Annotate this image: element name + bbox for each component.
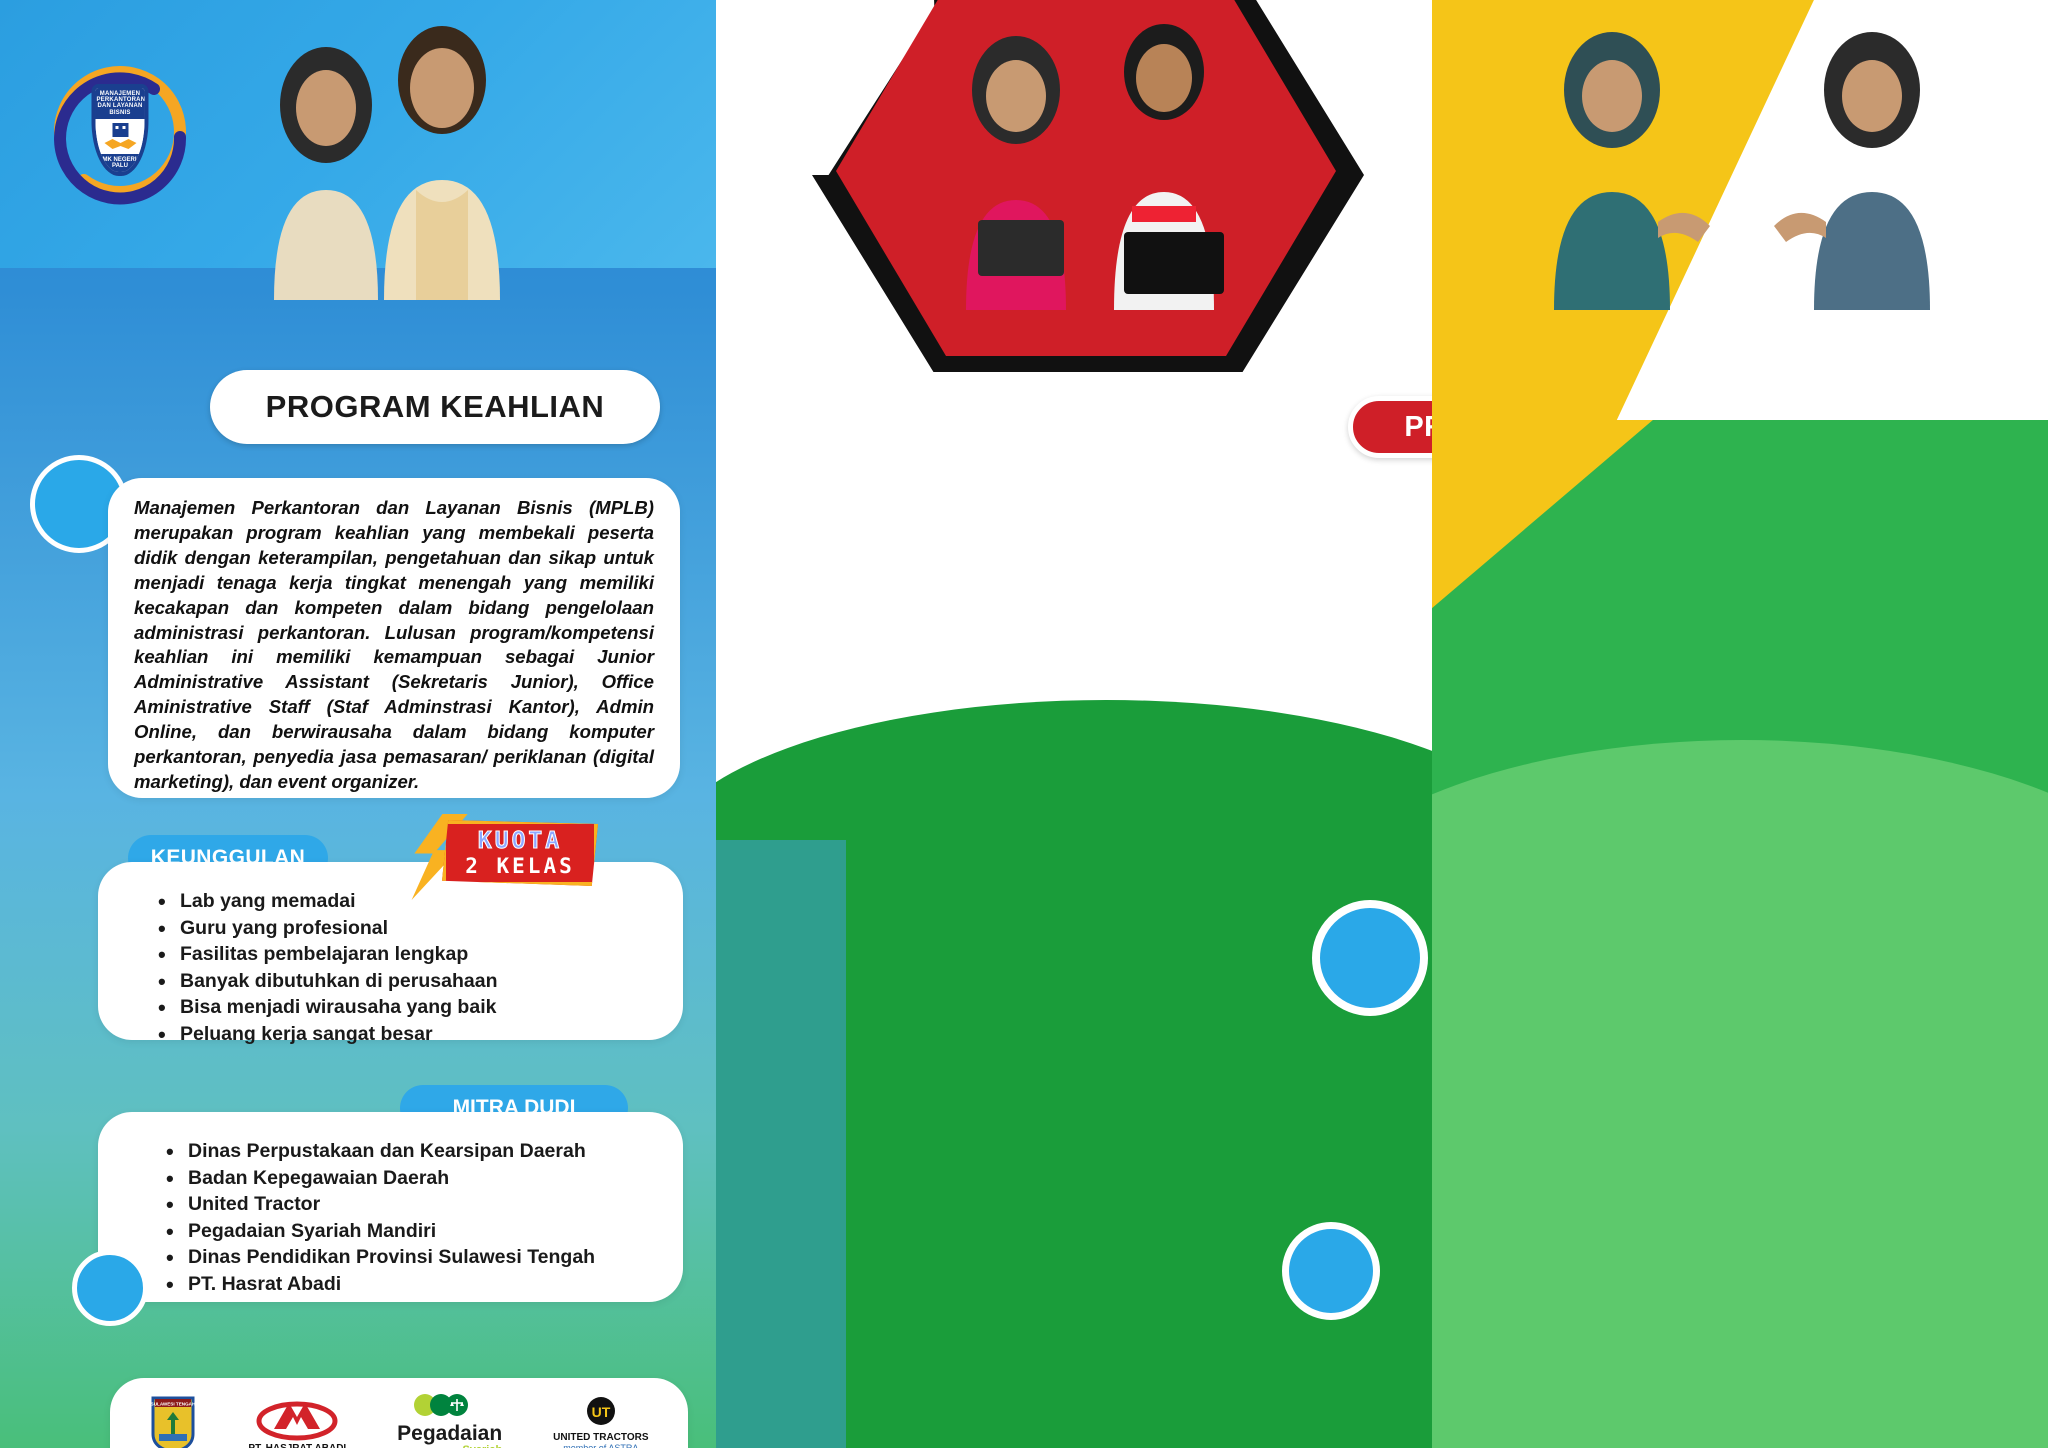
brochure-page: MANAJEMEN PERKANTORAN DAN LAYANAN BISNIS… xyxy=(0,0,2048,1448)
psos-students-photo xyxy=(1462,10,2022,310)
list-item: Banyak dibutuhkan di perusahaan xyxy=(154,968,663,995)
panel-tjkt: TEKNIK JARINGAN KOMPUTER DAN TELEKOMUNIK… xyxy=(716,0,1432,1448)
list-item: Badan Kepegawaian Daerah xyxy=(162,1165,669,1192)
pegadaian-caption: Pegadaian xyxy=(397,1423,502,1444)
list-item: Dinas Perpustakaan dan Kearsipan Daerah xyxy=(162,1138,669,1165)
sulawesi-tengah-emblem-icon: SULAWESI TENGAH xyxy=(149,1394,197,1448)
mplb-description-card: Manajemen Perkantoran dan Layanan Bisnis… xyxy=(108,478,680,798)
list-item: Dinas Pendidikan Provinsi Sulawesi Tenga… xyxy=(162,1244,669,1271)
handshake-building-icon xyxy=(100,119,140,153)
logo-emblem xyxy=(95,119,144,154)
mplb-students-photo xyxy=(216,10,536,300)
mplb-school-logo: MANAJEMEN PERKANTORAN DAN LAYANAN BISNIS… xyxy=(40,55,200,215)
svg-text:SULAWESI TENGAH: SULAWESI TENGAH xyxy=(151,1402,196,1407)
united-tractors-caption: UNITED TRACTORS xyxy=(553,1432,648,1443)
hasjrat-abadi-logo-icon: PT. HASJRAT ABADI xyxy=(248,1395,346,1448)
mplb-mitra-list: Dinas Perpustakaan dan Kearsipan Daerah … xyxy=(162,1138,669,1298)
united-tractors-logo-icon: UT UNITED TRACTORS member of ASTRA xyxy=(553,1396,648,1448)
decor-circle xyxy=(72,1250,148,1326)
list-item: Bisa menjadi wirausaha yang baik xyxy=(154,994,663,1021)
decor-circle xyxy=(1312,900,1428,1016)
list-item: Fasilitas pembelajaran lengkap xyxy=(154,941,663,968)
kuota-line1: KUOTA xyxy=(478,828,562,854)
panel-psos-light-green xyxy=(1432,740,2048,1448)
mplb-kuota-badge: KUOTA 2 KELAS xyxy=(430,820,598,892)
kuota-line2: 2 KELAS xyxy=(465,854,575,878)
mplb-description: Manajemen Perkantoran dan Layanan Bisnis… xyxy=(134,496,654,795)
list-item: Peluang kerja sangat besar xyxy=(154,1021,663,1048)
kuota-plate: KUOTA 2 KELAS xyxy=(442,820,598,886)
mplb-title: PROGRAM KEAHLIAN xyxy=(210,370,660,444)
pegadaian-syariah-logo-icon: Pegadaian Syariah xyxy=(397,1393,502,1448)
list-item: Guru yang profesional xyxy=(154,915,663,942)
united-tractors-sub: member of ASTRA xyxy=(563,1443,638,1448)
mplb-mitra-card: Dinas Perpustakaan dan Kearsipan Daerah … xyxy=(98,1112,683,1302)
mplb-keunggulan-list: Lab yang memadai Guru yang profesional F… xyxy=(154,888,663,1048)
list-item: Pegadaian Syariah Mandiri xyxy=(162,1218,669,1245)
pegadaian-sub: Syariah xyxy=(462,1444,502,1448)
decor-circle xyxy=(1282,1222,1380,1320)
list-item: United Tractor xyxy=(162,1191,669,1218)
hasjrat-abadi-caption: PT. HASJRAT ABADI xyxy=(248,1443,346,1448)
svg-text:UT: UT xyxy=(591,1404,610,1420)
panel-mplb: MANAJEMEN PERKANTORAN DAN LAYANAN BISNIS… xyxy=(0,0,716,1448)
panel-pekerjaan-sosial: PEKERJAAN SOSIAL SMK NEGERI 4 PALU PS PR… xyxy=(1432,0,2048,1448)
list-item: PT. Hasrat Abadi xyxy=(162,1271,669,1298)
logo-bottom-text: SMK NEGERI 4 PALU xyxy=(95,154,144,172)
tjkt-title: PROGRAM KEAHLIAN xyxy=(1348,396,1432,458)
tjkt-students-photo xyxy=(896,10,1296,310)
panel-tjkt-teal-stripe xyxy=(716,840,846,1448)
mplb-partner-logos: SULAWESI TENGAH PT. HASJRAT ABADI xyxy=(110,1378,688,1448)
logo-top-text: MANAJEMEN PERKANTORAN DAN LAYANAN BISNIS xyxy=(95,88,144,119)
